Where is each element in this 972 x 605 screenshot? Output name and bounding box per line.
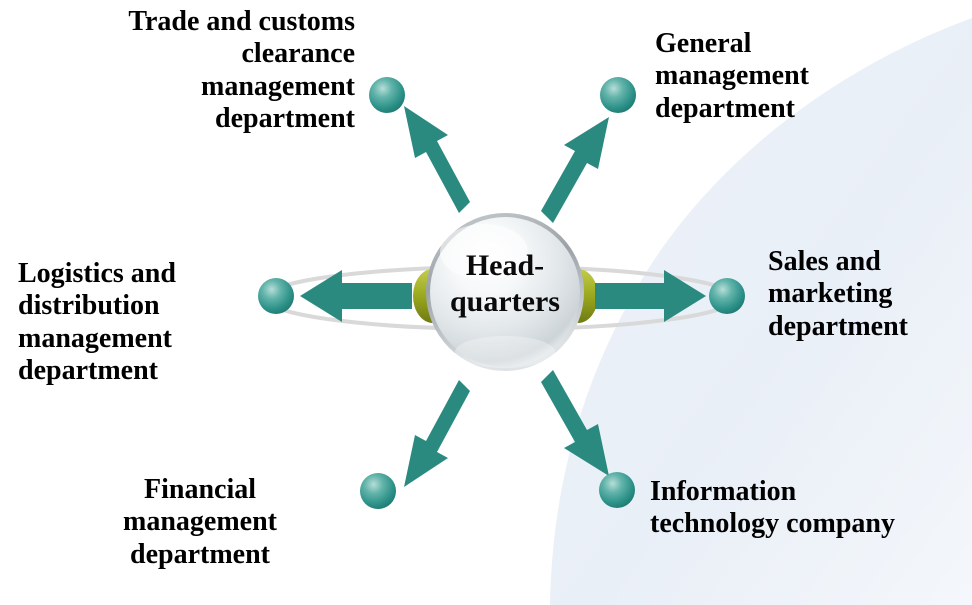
label-general-management: General management department bbox=[655, 28, 955, 125]
node-general-management[interactable] bbox=[600, 77, 636, 113]
label-logistics-distribution: Logistics and distribution management de… bbox=[18, 258, 258, 388]
label-sales-marketing: Sales and marketing department bbox=[768, 246, 968, 343]
diagram-canvas: Head- quarters Trade and customs clearan… bbox=[0, 0, 972, 605]
node-sales-marketing[interactable] bbox=[709, 278, 745, 314]
arrow-to-financial-management bbox=[404, 380, 470, 487]
node-trade-customs[interactable] bbox=[369, 77, 405, 113]
node-logistics-distribution[interactable] bbox=[258, 278, 294, 314]
headquarters-node[interactable] bbox=[426, 213, 584, 371]
arrow-to-information-technology bbox=[541, 370, 609, 476]
node-financial-management[interactable] bbox=[360, 473, 396, 509]
label-information-technology: Information technology company bbox=[650, 476, 972, 541]
arrow-to-general-management bbox=[541, 117, 609, 223]
arrow-to-trade-customs bbox=[404, 106, 470, 213]
label-financial-management: Financial management department bbox=[90, 474, 310, 571]
node-information-technology[interactable] bbox=[599, 472, 635, 508]
label-trade-customs: Trade and customs clearance management d… bbox=[30, 6, 355, 136]
